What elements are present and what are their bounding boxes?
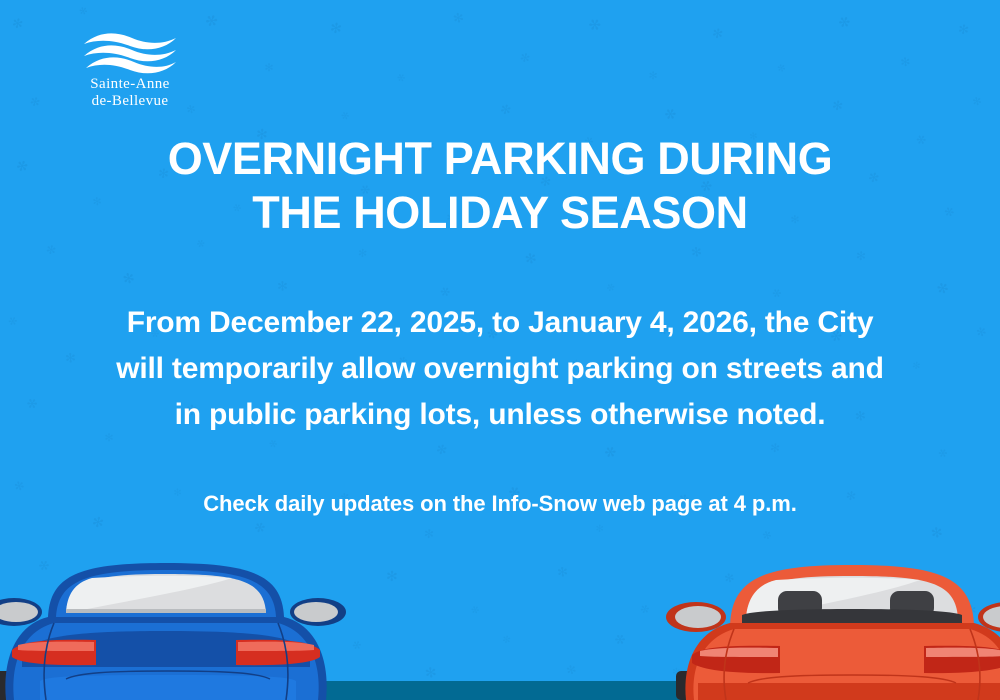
logo-text-line1: Sainte-Anne	[70, 76, 190, 93]
snowflake-icon: ✻	[449, 10, 466, 27]
snowflake-icon: ✻	[11, 17, 24, 32]
snowflake-icon: ✻	[350, 639, 363, 653]
snowflake-icon: ✻	[273, 278, 290, 294]
snowflake-icon: ✻	[957, 23, 969, 37]
red-car-rear-icon	[662, 555, 1000, 700]
snowflake-icon: ✻	[897, 54, 913, 69]
snowflake-icon: ✻	[687, 244, 704, 261]
snowflake-icon: ✻	[585, 16, 603, 35]
snowflake-icon: ✻	[519, 51, 532, 65]
snowflake-icon: ✻	[933, 280, 951, 298]
snowflake-icon: ✻	[760, 528, 774, 542]
footnote-text: Check daily updates on the Info-Snow web…	[0, 489, 1000, 519]
snowflake-icon: ✻	[553, 564, 570, 580]
snowflake-icon: ✻	[76, 5, 89, 18]
snowflake-icon: ✻	[329, 21, 343, 36]
logo-text-line2: de-Bellevue	[70, 93, 190, 110]
snowflake-icon: ✻	[638, 603, 650, 616]
snowflake-icon: ✻	[194, 239, 205, 251]
body-line-3: in public parking lots, unless otherwise…	[0, 392, 1000, 438]
snowflake-icon: ✻	[927, 524, 945, 542]
snowflake-icon: ✻	[435, 443, 449, 458]
snowflake-icon: ✻	[711, 27, 724, 42]
snowflake-icon: ✻	[774, 62, 787, 75]
snowflake-icon: ✻	[45, 243, 58, 257]
snowflake-icon: ✻	[856, 250, 867, 263]
snowflake-icon: ✻	[119, 270, 137, 288]
snowflake-icon: ✻	[438, 284, 453, 300]
sainte-anne-de-bellevue-logo: Sainte-Anne de-Bellevue	[70, 28, 190, 110]
snowflake-icon: ✻	[266, 438, 279, 451]
body-line-1: From December 22, 2025, to January 4, 20…	[0, 300, 1000, 346]
snowflake-icon: ✻	[394, 72, 407, 85]
snowflake-icon: ✻	[592, 523, 605, 535]
holiday-parking-poster: ✻✻✻✻✻✻✻✻✻✻✻✻✻✻✻✻✻✻✻✻✻✻✻✻✻✻✻✻✻✻✻✻✻✻✻✻✻✻✻✻…	[0, 0, 1000, 700]
page-title: OVERNIGHT PARKING DURING THE HOLIDAY SEA…	[0, 132, 1000, 240]
snowflake-icon: ✻	[770, 286, 783, 300]
snowflake-icon: ✻	[501, 635, 511, 646]
blue-car-rear-icon	[0, 555, 348, 700]
snowflake-icon: ✻	[969, 94, 983, 108]
snowflake-icon: ✻	[563, 662, 579, 678]
snowflake-icon: ✻	[468, 604, 481, 617]
snowflake-icon: ✻	[602, 444, 619, 462]
snowflake-icon: ✻	[661, 106, 678, 124]
snowflake-icon: ✻	[386, 570, 398, 584]
snowflake-icon: ✻	[769, 442, 780, 455]
snowflake-icon: ✻	[831, 99, 844, 114]
wave-lines-icon	[80, 28, 180, 76]
snowflake-icon: ✻	[499, 103, 513, 118]
snowflake-icon: ✻	[605, 283, 616, 295]
headline-line-2: THE HOLIDAY SEASON	[0, 186, 1000, 240]
snowflake-icon: ✻	[612, 632, 628, 649]
snowflake-icon: ✻	[262, 61, 276, 74]
body-line-2: will temporarily allow overnight parking…	[0, 346, 1000, 392]
snowflake-icon: ✻	[646, 69, 660, 82]
snowflake-icon: ✻	[423, 528, 434, 541]
snowflake-icon: ✻	[28, 95, 41, 110]
snowflake-icon: ✻	[358, 248, 368, 260]
body-copy: From December 22, 2025, to January 4, 20…	[0, 300, 1000, 438]
snowflake-icon: ✻	[338, 110, 351, 123]
headline-line-1: OVERNIGHT PARKING DURING	[0, 132, 1000, 186]
snowflake-icon: ✻	[936, 446, 949, 460]
snowflake-icon: ✻	[203, 12, 220, 31]
snowflake-icon: ✻	[421, 664, 439, 682]
snowflake-icon: ✻	[836, 14, 853, 32]
snowflake-icon: ✻	[521, 250, 539, 268]
snowflake-icon: ✻	[252, 520, 267, 536]
